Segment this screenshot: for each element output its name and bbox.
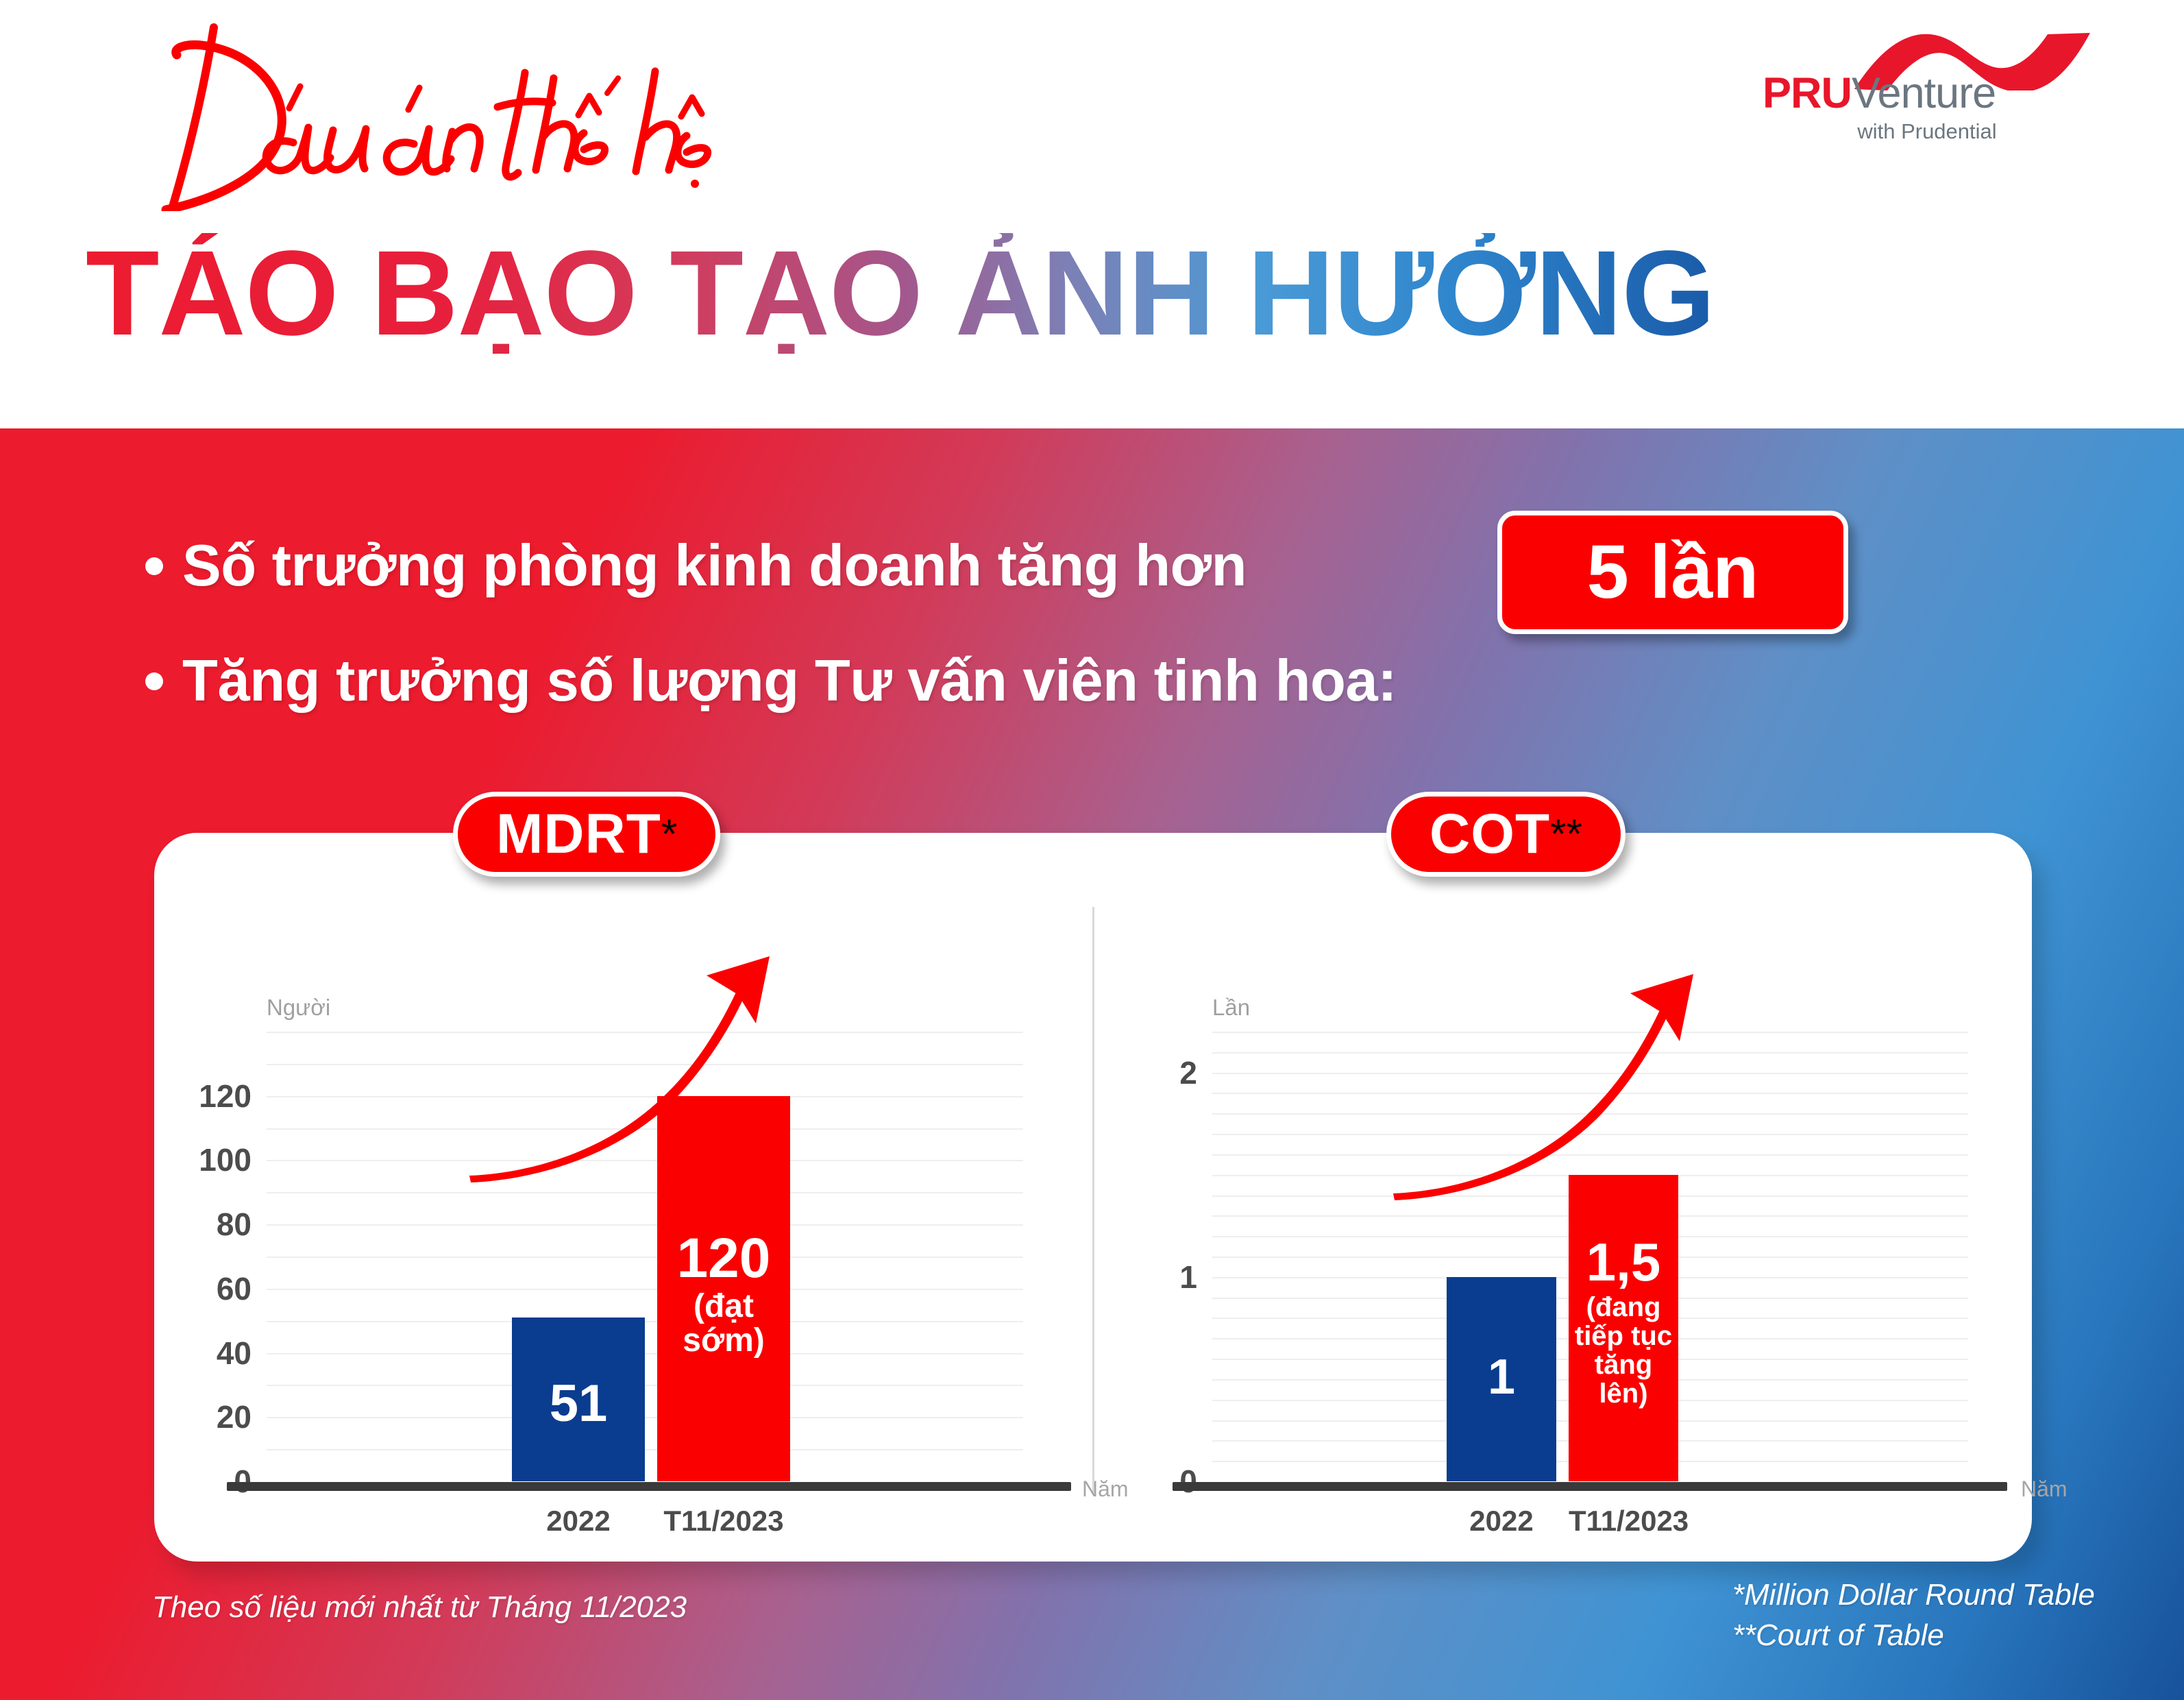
y-tick-mdrt-80: 80: [217, 1206, 251, 1243]
gridline: [267, 1449, 1023, 1450]
gridline: [267, 1321, 1023, 1322]
infographic-page: TÁO BẠO TẠO ẢNH HƯỞNG PRUVenture with Pr…: [0, 0, 2184, 1700]
gridline: [267, 1353, 1023, 1355]
highlight-badge-label: 5 lần: [1587, 535, 1759, 610]
header-band: TÁO BẠO TẠO ẢNH HƯỞNG PRUVenture with Pr…: [0, 0, 2184, 428]
x-axis-unit-cot: Năm: [2021, 1477, 2068, 1502]
x-tick-cot-t11-2023: T11/2023: [1569, 1505, 1678, 1538]
y-tick-cot-2: 2: [1179, 1054, 1197, 1091]
chart-badge-cot-label: COT: [1430, 806, 1550, 862]
bar-value-mdrt-t11-2023: 120: [657, 1230, 790, 1287]
y-tick-cot-0: 0: [1179, 1463, 1197, 1500]
bar-sublabel-cot-t11-2023: (đang tiếp tục tăng lên): [1569, 1293, 1678, 1408]
gridline: [267, 1417, 1023, 1418]
footnote-cot: **Court of Table: [1732, 1615, 2095, 1655]
bar-value-mdrt-2022: 51: [512, 1378, 645, 1430]
logo-tagline: with Prudential: [1763, 119, 2091, 144]
y-axis-unit-cot: Lần: [1212, 995, 1250, 1021]
bullet-dot-icon: [145, 557, 163, 575]
bar-cot-t11-2023: 1,5 (đang tiếp tục tăng lên): [1569, 1175, 1678, 1481]
plot-area-cot: 0 1 2 1 1,5 (đang tiếp tục tăng lên): [1212, 1032, 1968, 1481]
chart-badge-mdrt: MDRT*: [453, 792, 720, 877]
bullet-dot-icon: [145, 672, 163, 690]
bullet-label-2: Tăng trưởng số lượng Tư vấn viên tinh ho…: [182, 648, 1397, 715]
y-tick-mdrt-40: 40: [217, 1335, 251, 1372]
chart-badge-mdrt-label: MDRT: [496, 806, 661, 862]
page-title: TÁO BẠO TẠO ẢNH HƯỞNG: [86, 233, 1715, 354]
pruventure-logo: PRUVenture with Prudential: [1763, 29, 2091, 152]
content-body: Số trưởng phòng kinh doanh tăng hơn 5 lầ…: [0, 428, 2184, 1700]
x-axis-cot: [1173, 1482, 2007, 1491]
y-tick-mdrt-60: 60: [217, 1270, 251, 1307]
logo-pru: PRU: [1763, 69, 1852, 117]
y-tick-cot-1: 1: [1179, 1259, 1197, 1296]
charts-card: MDRT* Người: [154, 833, 2032, 1562]
script-title: [89, 12, 1117, 211]
chart-panel-mdrt: MDRT* Người: [154, 833, 1092, 1562]
bullet-item-1: Số trưởng phòng kinh doanh tăng hơn: [145, 533, 1247, 600]
bar-mdrt-2022: 51: [512, 1317, 645, 1481]
x-axis-mdrt: [227, 1482, 1071, 1491]
highlight-badge-5lan: 5 lần: [1497, 511, 1848, 634]
y-tick-mdrt-120: 120: [199, 1078, 251, 1115]
footnotes: *Million Dollar Round Table **Court of T…: [1732, 1575, 2095, 1656]
x-tick-mdrt-2022: 2022: [512, 1505, 645, 1538]
gridline: [267, 1385, 1023, 1386]
source-note: Theo số liệu mới nhất từ Tháng 11/2023: [152, 1590, 687, 1625]
script-title-svg: [89, 12, 1117, 211]
footnote-mdrt: *Million Dollar Round Table: [1732, 1575, 2095, 1615]
logo-venture: Venture: [1852, 69, 1996, 117]
bar-value-cot-2022: 1: [1447, 1352, 1556, 1402]
chart-panel-cot: COT** Lần: [1094, 833, 2032, 1562]
bar-mdrt-t11-2023: 120 (đạt sớm): [657, 1096, 790, 1481]
y-tick-mdrt-100: 100: [199, 1141, 251, 1178]
plot-area-mdrt: 0 20 40 60 80 100 120 51: [267, 1032, 1023, 1481]
bullet-item-2: Tăng trưởng số lượng Tư vấn viên tinh ho…: [145, 648, 1397, 715]
y-tick-mdrt-20: 20: [217, 1398, 251, 1435]
bar-cot-2022: 1: [1447, 1277, 1556, 1481]
bullet-label-1: Số trưởng phòng kinh doanh tăng hơn: [182, 533, 1247, 600]
bar-value-cot-t11-2023: 1,5: [1569, 1235, 1678, 1289]
x-tick-cot-2022: 2022: [1447, 1505, 1556, 1538]
y-axis-unit-mdrt: Người: [267, 995, 330, 1021]
growth-arrow-icon-cot: [1389, 964, 1745, 1321]
chart-badge-cot: COT**: [1386, 792, 1625, 877]
y-tick-mdrt-0: 0: [234, 1463, 251, 1500]
x-tick-mdrt-t11-2023: T11/2023: [657, 1505, 790, 1538]
bar-sublabel-mdrt-t11-2023: (đạt sớm): [657, 1289, 790, 1359]
logo-wordmark: PRUVenture: [1763, 69, 1996, 118]
